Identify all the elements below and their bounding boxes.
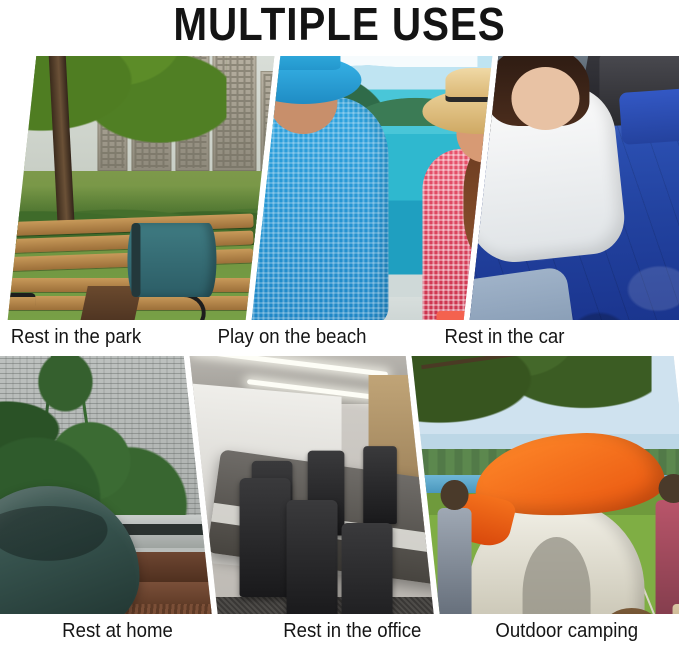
caption-park: Rest in the park bbox=[11, 322, 141, 352]
car-image bbox=[468, 56, 679, 320]
photo-panel-office bbox=[188, 356, 437, 614]
panel-row-top bbox=[0, 56, 679, 320]
tree-canopy bbox=[410, 356, 652, 441]
office-scene bbox=[188, 356, 437, 614]
caption-row-top: Rest in the park Play on the beach Rest … bbox=[0, 322, 679, 352]
car-scene bbox=[468, 56, 679, 320]
camper-right bbox=[655, 500, 679, 614]
office-chair bbox=[341, 523, 392, 614]
camper-left bbox=[438, 508, 472, 614]
caption-car: Rest in the car bbox=[445, 322, 565, 352]
photo-panel-camping bbox=[410, 356, 679, 614]
home-image bbox=[0, 356, 214, 614]
photo-panel-home bbox=[0, 356, 214, 614]
page-title: MULTIPLE USES bbox=[41, 0, 639, 50]
panel-row-bottom bbox=[0, 356, 679, 614]
woman-head bbox=[511, 67, 579, 130]
office-chair bbox=[239, 478, 290, 596]
multiple-uses-infographic: MULTIPLE USES bbox=[0, 0, 679, 646]
caption-home: Rest at home bbox=[62, 616, 173, 646]
mattress-pillow bbox=[619, 85, 679, 145]
caption-office: Rest in the office bbox=[283, 616, 421, 646]
office-chair bbox=[364, 447, 398, 525]
rolled-sleeping-mat bbox=[128, 223, 216, 297]
bench-armrest bbox=[6, 293, 36, 320]
photo-panel-beach bbox=[250, 56, 495, 320]
office-chair bbox=[287, 500, 338, 614]
beach-image bbox=[250, 56, 495, 320]
photo-panel-park bbox=[6, 56, 277, 320]
caption-beach: Play on the beach bbox=[218, 322, 367, 352]
park-scene bbox=[6, 56, 277, 320]
caption-row-bottom: Rest at home Rest in the office Outdoor … bbox=[0, 616, 679, 646]
beach-scene bbox=[250, 56, 495, 320]
orange-rainfly bbox=[472, 427, 668, 521]
caption-camping: Outdoor camping bbox=[495, 616, 638, 646]
home-scene bbox=[0, 356, 214, 614]
park-image bbox=[6, 56, 277, 320]
camping-bag bbox=[672, 604, 679, 614]
tree-canopy bbox=[6, 56, 227, 149]
photo-panel-car bbox=[468, 56, 679, 320]
office-image bbox=[188, 356, 437, 614]
camping-scene bbox=[410, 356, 679, 614]
camping-image bbox=[410, 356, 679, 614]
